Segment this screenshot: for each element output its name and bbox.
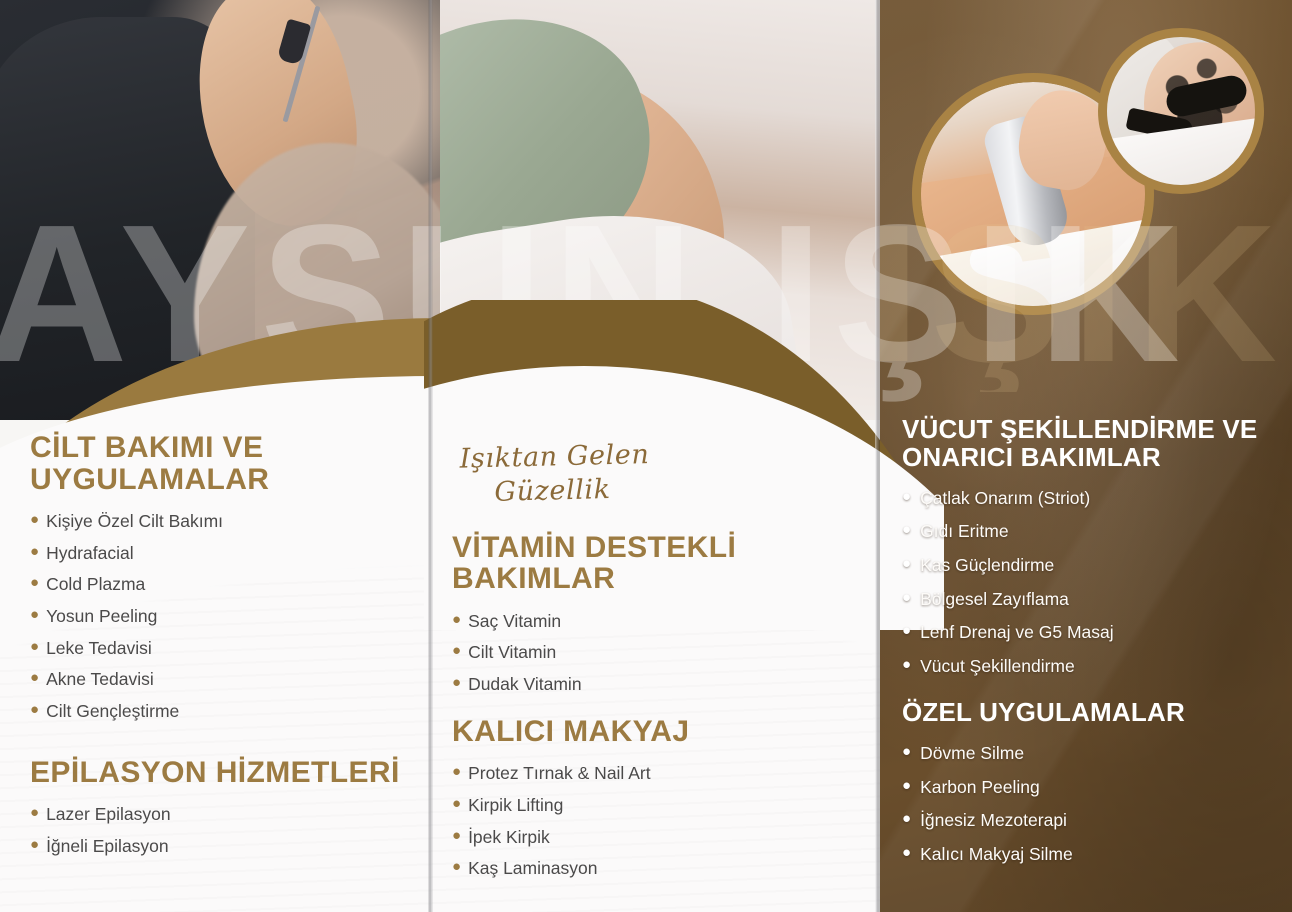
list-item-label: Kaş Laminasyon <box>468 858 597 879</box>
bullet-icon: ● <box>30 511 39 530</box>
bullet-icon: ● <box>902 777 911 796</box>
list-item: ●Cilt Vitamin <box>452 637 842 669</box>
bullet-icon: ● <box>902 844 911 863</box>
list-item: ●Akne Tedavisi <box>30 664 410 696</box>
list-item: ●Kişiye Özel Cilt Bakımı <box>30 506 410 538</box>
list-item: ●Dudak Vitamin <box>452 668 842 700</box>
brochure-page: AYSUN IŞIK IŞIK CİLT BAKIMI VE UYGULAMAL… <box>0 0 1292 912</box>
bullet-icon: ● <box>452 642 461 661</box>
list-item: ●Leke Tedavisi <box>30 632 410 664</box>
list-epilasyon: ●Lazer Epilasyon ●İğneli Epilasyon <box>30 799 410 862</box>
list-item: ●Kirpik Lifting <box>452 789 842 821</box>
list-item-label: Yosun Peeling <box>46 606 157 627</box>
section-gap <box>452 700 842 716</box>
list-item-label: İğneli Epilasyon <box>46 836 169 857</box>
list-item-label: Bölgesel Zayıflama <box>920 589 1069 610</box>
list-item-label: Lazer Epilasyon <box>46 804 171 825</box>
fold-line-left <box>428 0 433 912</box>
list-item-label: Leke Tedavisi <box>46 638 152 659</box>
bullet-icon: ● <box>452 858 461 877</box>
bullet-icon: ● <box>30 836 39 855</box>
list-item: ●Karbon Peeling <box>902 770 1278 804</box>
column-right: VÜCUT ŞEKİLLENDİRME VE ONARICI BAKIMLAR … <box>902 416 1278 871</box>
list-item-label: Cilt Gençleştirme <box>46 701 179 722</box>
list-item: ●Çatlak Onarım (Striot) <box>902 481 1278 515</box>
bullet-icon: ● <box>30 804 39 823</box>
list-item: ●İğneli Epilasyon <box>30 831 410 863</box>
list-item-label: Kas Güçlendirme <box>920 555 1054 576</box>
list-item-label: Kişiye Özel Cilt Bakımı <box>46 511 223 532</box>
list-item: ●Kas Güçlendirme <box>902 548 1278 582</box>
bullet-icon: ● <box>902 488 911 507</box>
list-item-label: Dövme Silme <box>920 743 1024 764</box>
bullet-icon: ● <box>902 656 911 675</box>
list-item: ●Gıdı Eritme <box>902 515 1278 549</box>
heading-vucut-sekillendirme: VÜCUT ŞEKİLLENDİRME VE ONARICI BAKIMLAR <box>902 416 1278 471</box>
list-item: ●Lazer Epilasyon <box>30 799 410 831</box>
bullet-icon: ● <box>30 701 39 720</box>
bullet-icon: ● <box>30 606 39 625</box>
list-item-label: İpek Kirpik <box>468 827 550 848</box>
list-item-label: Kalıcı Makyaj Silme <box>920 844 1073 865</box>
heading-ozel-uygulamalar: ÖZEL UYGULAMALAR <box>902 699 1278 727</box>
list-item: ●İğnesiz Mezoterapi <box>902 804 1278 838</box>
list-kalici-makyaj: ●Protez Tırnak & Nail Art ●Kirpik Liftin… <box>452 758 842 885</box>
list-item: ●İpek Kirpik <box>452 821 842 853</box>
bullet-icon: ● <box>902 589 911 608</box>
list-item: ●Cold Plazma <box>30 569 410 601</box>
list-item: ●Dövme Silme <box>902 736 1278 770</box>
bullet-icon: ● <box>30 638 39 657</box>
list-item-label: Hydrafacial <box>46 543 134 564</box>
bullet-icon: ● <box>452 795 461 814</box>
brand-script-tagline: Işıktan Gelen Güzellik <box>459 433 843 510</box>
list-item: ●Lenf Drenaj ve G5 Masaj <box>902 616 1278 650</box>
bullet-icon: ● <box>452 611 461 630</box>
list-item: ●Saç Vitamin <box>452 605 842 637</box>
photo-esthetician-applying-mask <box>0 0 440 420</box>
list-item: ●Protez Tırnak & Nail Art <box>452 758 842 790</box>
bullet-icon: ● <box>452 674 461 693</box>
fold-line-right <box>875 0 880 912</box>
list-item-label: Gıdı Eritme <box>920 521 1009 542</box>
heading-kalici-makyaj: KALICI MAKYAJ <box>452 716 842 748</box>
bullet-icon: ● <box>902 521 911 540</box>
list-item-label: Karbon Peeling <box>920 777 1040 798</box>
list-item-label: Protez Tırnak & Nail Art <box>468 763 651 784</box>
bullet-icon: ● <box>452 827 461 846</box>
list-item-label: Lenf Drenaj ve G5 Masaj <box>920 622 1114 643</box>
bullet-icon: ● <box>30 574 39 593</box>
list-item-label: Kirpik Lifting <box>468 795 563 816</box>
list-item: ●Kaş Laminasyon <box>452 853 842 885</box>
list-item: ●Cilt Gençleştirme <box>30 695 410 727</box>
list-item-label: Dudak Vitamin <box>468 674 582 695</box>
list-item-label: Saç Vitamin <box>468 611 561 632</box>
list-item-label: Cilt Vitamin <box>468 642 556 663</box>
column-left: CİLT BAKIMI VE UYGULAMALAR ●Kişiye Özel … <box>30 432 410 862</box>
photo-circle-carbon-peeling-ring <box>1098 28 1264 194</box>
list-vitamin: ●Saç Vitamin ●Cilt Vitamin ●Dudak Vitami… <box>452 605 842 700</box>
bullet-icon: ● <box>902 555 911 574</box>
list-item-label: Akne Tedavisi <box>46 669 154 690</box>
bullet-icon: ● <box>30 669 39 688</box>
list-cilt-bakimi: ●Kişiye Özel Cilt Bakımı ●Hydrafacial ●C… <box>30 506 410 727</box>
heading-epilasyon: EPİLASYON HİZMETLERİ <box>30 757 410 789</box>
bullet-icon: ● <box>902 622 911 641</box>
bullet-icon: ● <box>30 543 39 562</box>
list-vucut-sekillendirme: ●Çatlak Onarım (Striot) ●Gıdı Eritme ●Ka… <box>902 481 1278 683</box>
list-item: ●Bölgesel Zayıflama <box>902 582 1278 616</box>
section-gap <box>30 727 410 757</box>
list-ozel-uygulamalar: ●Dövme Silme ●Karbon Peeling ●İğnesiz Me… <box>902 736 1278 871</box>
list-item-label: Vücut Şekillendirme <box>920 656 1075 677</box>
bullet-icon: ● <box>902 810 911 829</box>
bullet-icon: ● <box>902 743 911 762</box>
list-item-label: Cold Plazma <box>46 574 145 595</box>
list-item: ●Yosun Peeling <box>30 601 410 633</box>
heading-cilt-bakimi: CİLT BAKIMI VE UYGULAMALAR <box>30 432 410 496</box>
heading-vitamin: VİTAMİN DESTEKLİ BAKIMLAR <box>452 532 842 596</box>
list-item-label: İğnesiz Mezoterapi <box>920 810 1067 831</box>
list-item: ●Kalıcı Makyaj Silme <box>902 837 1278 871</box>
bullet-icon: ● <box>452 763 461 782</box>
column-middle: Işıktan Gelen Güzellik VİTAMİN DESTEKLİ … <box>452 438 842 884</box>
list-item: ●Vücut Şekillendirme <box>902 649 1278 683</box>
list-item: ●Hydrafacial <box>30 537 410 569</box>
list-item-label: Çatlak Onarım (Striot) <box>920 488 1090 509</box>
